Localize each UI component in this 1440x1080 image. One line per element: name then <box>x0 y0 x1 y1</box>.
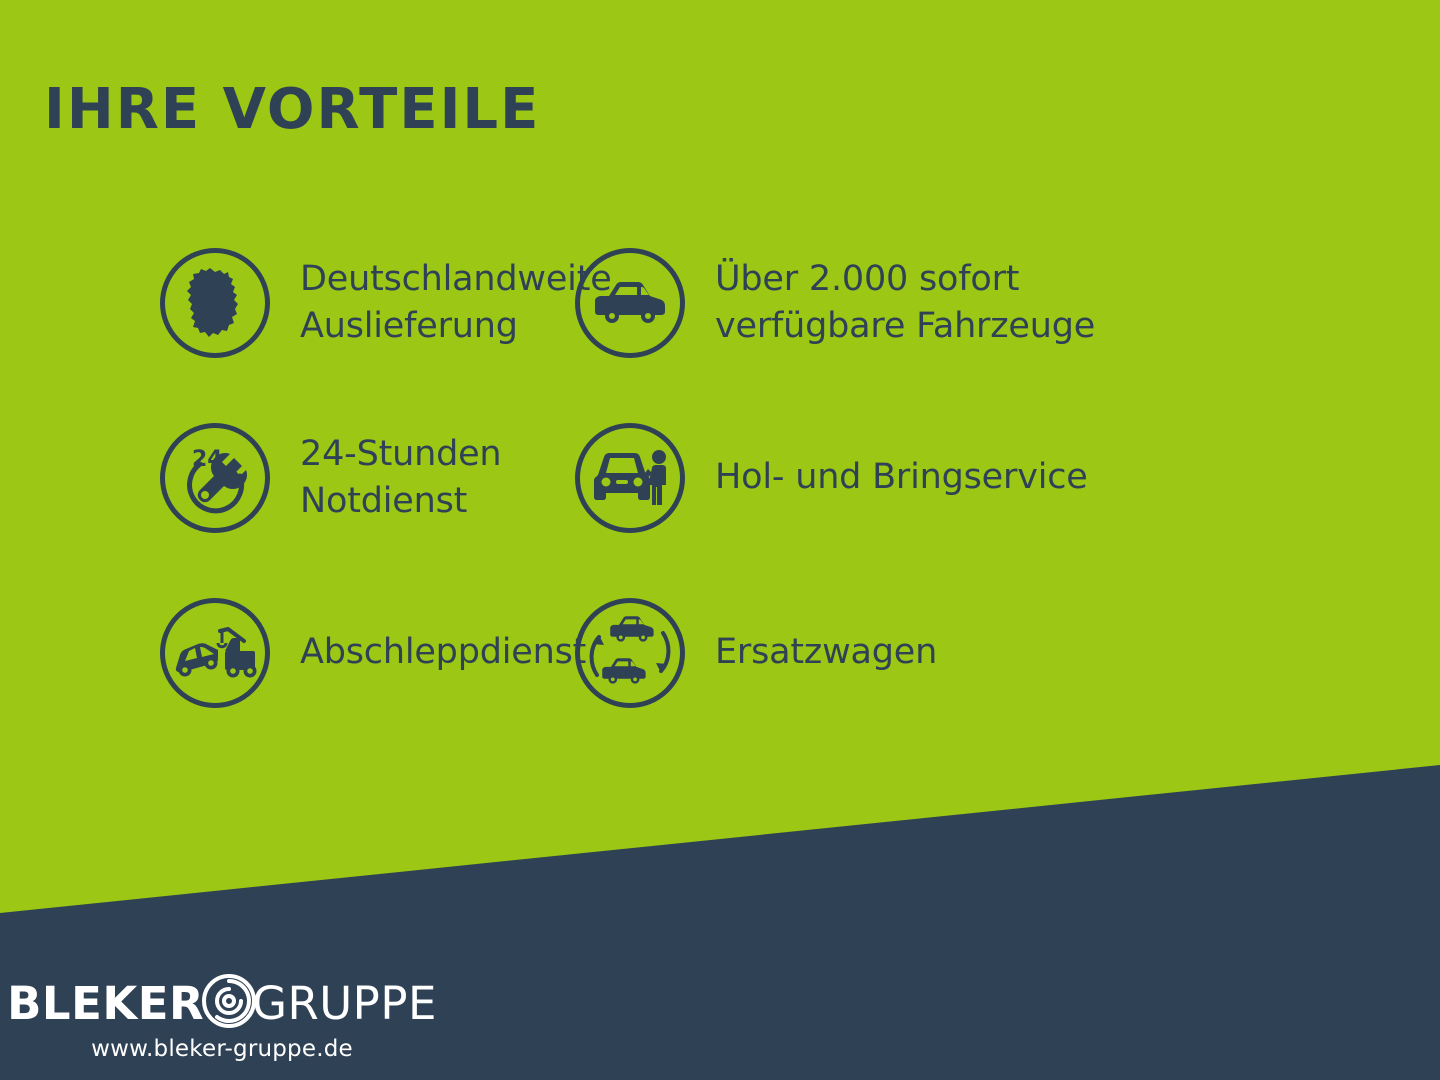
benefit-label-line1: Hol- und Bringservice <box>715 457 1088 497</box>
benefit-label-line1: Abschleppdienst <box>300 632 586 672</box>
benefit-item-abschleppdienst[interactable]: Abschleppdienst <box>0 565 565 740</box>
germany-map-icon <box>160 248 270 358</box>
two-cars-exchange-icon <box>575 598 685 708</box>
benefits-row: Abschleppdienst <box>0 565 1440 740</box>
logo-name-bold: BLEKER <box>7 977 204 1030</box>
benefit-label-line1: Über 2.000 sofort <box>715 259 1019 299</box>
benefits-row: 24 24-Stunden Notdienst <box>0 390 1440 565</box>
benefits-grid: Deutschlandweite Auslieferung Über 2.000… <box>0 215 1440 740</box>
logo-website-url[interactable]: www.bleker-gruppe.de <box>32 1036 412 1062</box>
logo-wordmark: BLEKER GRUPPE <box>32 972 412 1034</box>
benefit-label-line1: Ersatzwagen <box>715 632 937 672</box>
benefit-label-line2: verfügbare Fahrzeuge <box>715 303 1095 349</box>
benefit-label: 24-Stunden Notdienst <box>300 431 501 523</box>
benefit-item-deutschlandweite-auslieferung[interactable]: Deutschlandweite Auslieferung <box>0 215 565 390</box>
benefits-row: Deutschlandweite Auslieferung Über 2.000… <box>0 215 1440 390</box>
benefit-item-24-stunden-notdienst[interactable]: 24 24-Stunden Notdienst <box>0 390 565 565</box>
benefit-item-ersatzwagen[interactable]: Ersatzwagen <box>565 565 1265 740</box>
slide-canvas: IHRE VORTEILE Deutschlandweite Ausliefer… <box>0 0 1440 1080</box>
car-front-with-person-icon <box>575 423 685 533</box>
benefit-label: Hol- und Bringservice <box>715 454 1088 500</box>
logo-name-light: GRUPPE <box>252 977 437 1030</box>
24-hour-wrench-icon: 24 <box>160 423 270 533</box>
benefit-item-verfuegbare-fahrzeuge[interactable]: Über 2.000 sofort verfügbare Fahrzeuge <box>565 215 1265 390</box>
car-side-icon <box>575 248 685 358</box>
benefit-label: Ersatzwagen <box>715 629 937 675</box>
company-logo[interactable]: BLEKER GRUPPE www.bleker-gruppe.de <box>32 972 412 1062</box>
benefit-label: Über 2.000 sofort verfügbare Fahrzeuge <box>715 256 1095 348</box>
page-title: IHRE VORTEILE <box>44 82 540 138</box>
spiral-circle-icon <box>200 972 258 1034</box>
tow-truck-icon <box>160 598 270 708</box>
benefit-label-line1: 24-Stunden <box>300 434 501 474</box>
benefit-label: Abschleppdienst <box>300 629 586 675</box>
benefit-item-hol-und-bringservice[interactable]: Hol- und Bringservice <box>565 390 1265 565</box>
benefit-label-line2: Notdienst <box>300 478 501 524</box>
